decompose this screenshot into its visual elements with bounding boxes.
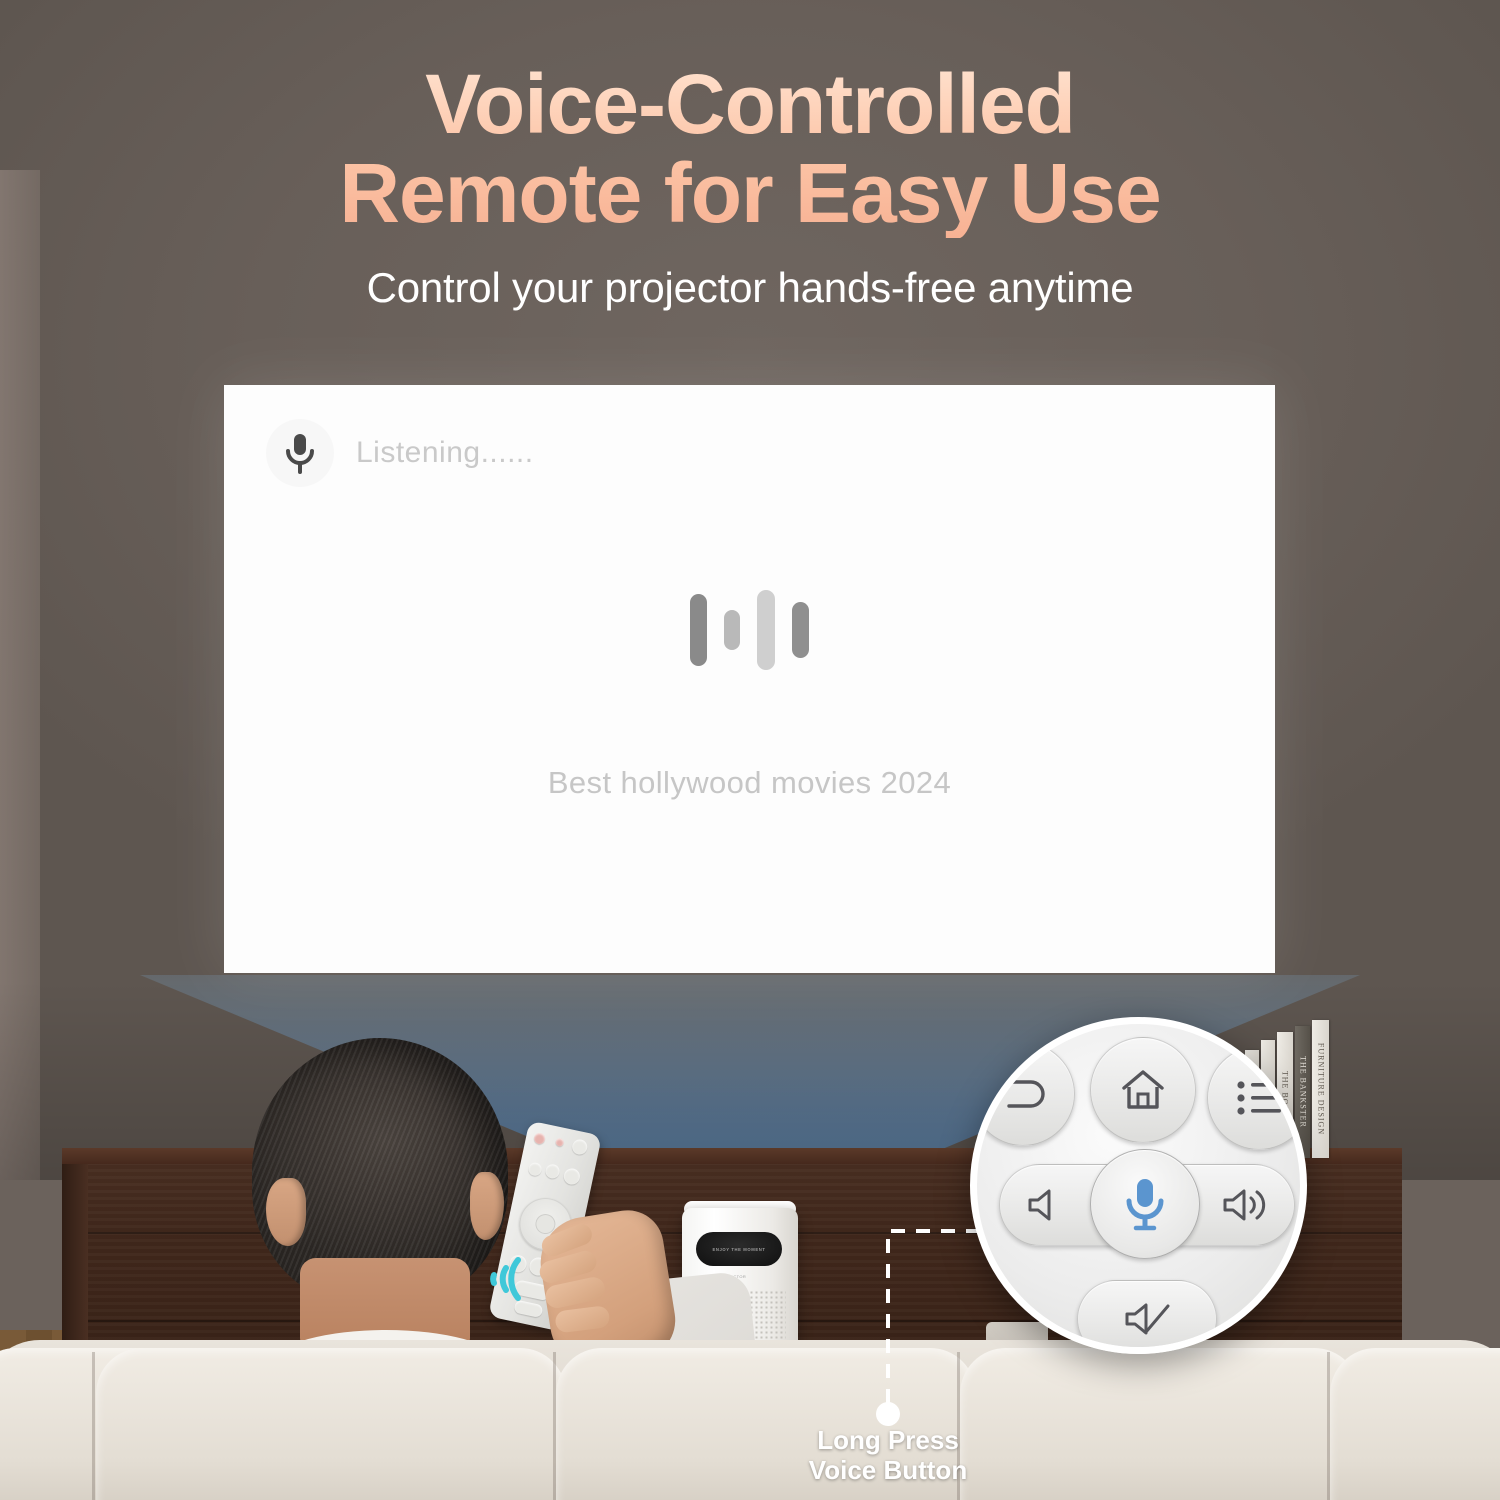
remote-small-button[interactable] <box>527 1161 542 1176</box>
back-button[interactable] <box>971 1042 1075 1146</box>
remote-small-button[interactable] <box>562 1167 581 1186</box>
book-title: FURNITURE DESIGN <box>1316 1043 1325 1135</box>
title-line-2: Remote for Easy Use <box>339 146 1160 240</box>
sofa-seam <box>92 1352 95 1500</box>
waveform-bar <box>690 594 707 666</box>
page-subtitle: Control your projector hands-free anytim… <box>0 264 1500 312</box>
sofa-seam <box>553 1352 556 1500</box>
title-line-1: Voice-Controlled <box>425 57 1075 151</box>
remote-power-button[interactable] <box>533 1132 546 1145</box>
menu-list-icon <box>1235 1078 1283 1118</box>
voice-query-text: Best hollywood movies 2024 <box>224 765 1275 801</box>
listening-status-text: Listening...... <box>356 436 534 470</box>
sofa-cushion <box>96 1348 566 1500</box>
waveform-bar <box>792 602 809 658</box>
projector-lens-panel: ENJOY THE MOMENT <box>696 1232 782 1266</box>
microphone-icon <box>266 419 334 487</box>
back-arrow-icon <box>995 1074 1051 1114</box>
home-icon <box>1119 1067 1167 1113</box>
volume-mute-icon <box>1121 1300 1173 1338</box>
voice-waveform <box>224 590 1275 670</box>
callout-line-1: Long Press <box>817 1425 959 1455</box>
callout-label: Long Press Voice Button <box>712 1425 1064 1486</box>
home-button[interactable] <box>1090 1037 1196 1143</box>
sofa-seam <box>1327 1352 1330 1500</box>
projector-lens-text: ENJOY THE MOMENT <box>712 1247 765 1252</box>
volume-down-icon <box>1025 1186 1071 1224</box>
remote-small-button[interactable] <box>544 1163 561 1180</box>
mute-button[interactable] <box>1077 1280 1217 1354</box>
sofa-cushion <box>1330 1348 1500 1500</box>
waveform-bar <box>757 590 775 670</box>
volume-up-icon <box>1220 1186 1274 1224</box>
callout-line-2: Voice Button <box>809 1455 967 1485</box>
remote-zoom-magnifier <box>970 1017 1307 1354</box>
book: FURNITURE DESIGN <box>1312 1020 1329 1158</box>
projected-screen: Listening...... Best hollywood movies 20… <box>224 385 1275 973</box>
menu-button[interactable] <box>1207 1046 1307 1150</box>
waveform-bar <box>724 610 740 650</box>
page-title: Voice-Controlled Remote for Easy Use <box>0 60 1500 238</box>
remote-small-button[interactable] <box>571 1138 589 1156</box>
voice-button[interactable] <box>1090 1149 1200 1259</box>
microphone-icon <box>1122 1175 1168 1233</box>
voice-status-row: Listening...... <box>266 419 534 487</box>
remote-small-button[interactable] <box>555 1137 564 1146</box>
wifi-signal-icon <box>478 1252 530 1306</box>
person-ear-left <box>266 1178 306 1246</box>
